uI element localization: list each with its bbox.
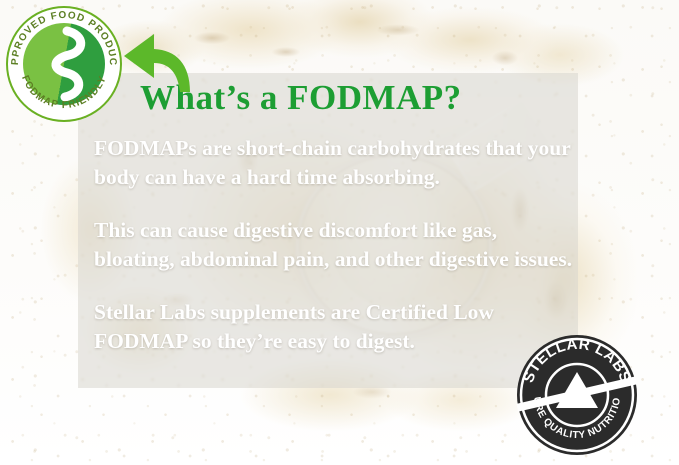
paragraph-1: FODMAPs are short-chain carbohydrates th… <box>94 134 574 191</box>
curved-arrow-left-icon <box>120 30 192 96</box>
page-title: What’s a FODMAP? <box>140 78 560 118</box>
fodmap-infographic: What’s a FODMAP? FODMAPs are short-chain… <box>0 0 679 465</box>
paragraph-2: This can cause digestive discomfort like… <box>94 216 574 273</box>
paragraph-3: Stellar Labs supplements are Certified L… <box>94 298 574 355</box>
stellar-labs-logo: STELLAR LABS PURE QUALITY NUTRITION <box>514 332 640 458</box>
body-copy: FODMAPs are short-chain carbohydrates th… <box>94 134 574 355</box>
badge-top-text: APPROVED FOOD PRODUCT <box>2 0 118 66</box>
badge-bottom-text: FODMAP FRIENDLY <box>19 74 109 111</box>
fodmap-friendly-badge: APPROVED FOOD PRODUCT FODMAP FRIENDLY <box>6 6 122 122</box>
badge-arc-text: APPROVED FOOD PRODUCT FODMAP FRIENDLY <box>6 6 122 122</box>
